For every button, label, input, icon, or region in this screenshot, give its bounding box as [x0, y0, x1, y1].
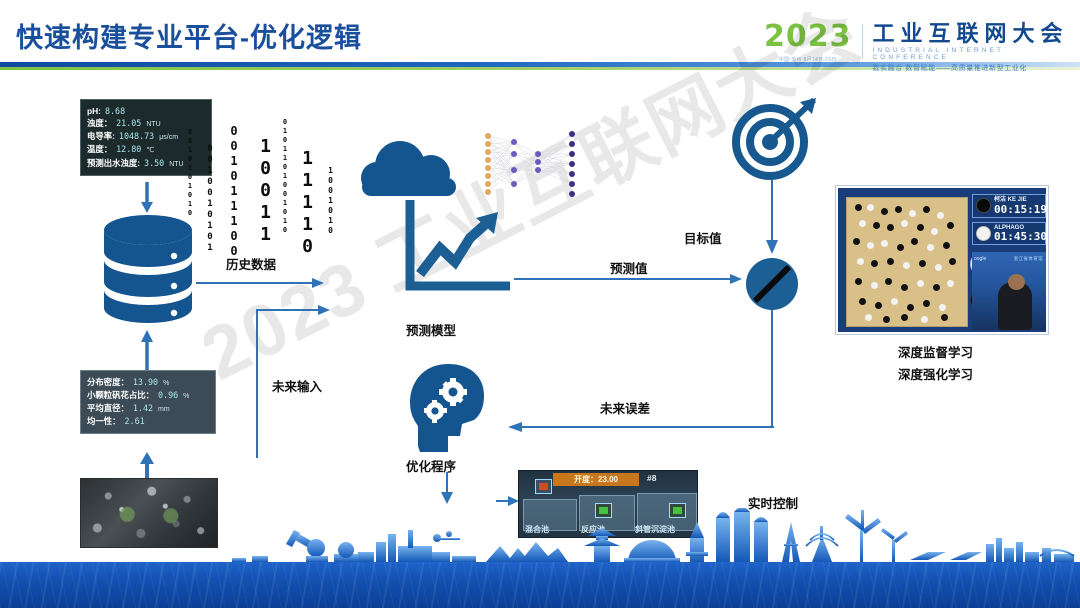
panel-row: 小颗粒矾花占比： 0.96 % — [87, 389, 209, 402]
binary-column: 001011100 — [228, 124, 240, 259]
alphago-clock-panel: 柯洁 KE JIE 00:15:19 ALPHAGO 01:45:30 — [972, 194, 1046, 249]
logo-year-block: 2023 中国·苏州 8月14日-15日 — [764, 22, 852, 63]
row-unit: ℃ — [146, 146, 154, 156]
alphago-match-screenshot: 柯洁 KE JIE 00:15:19 ALPHAGO 01:45:30 oogl… — [836, 186, 1048, 334]
row-key: pH: — [87, 105, 101, 117]
logo-title-cn: 工业互联网大会 — [872, 22, 1080, 45]
row-unit: NTU — [146, 120, 160, 130]
binary-data-graphic: 0010101010 0010010101 001011100 10011 01… — [186, 118, 350, 268]
row-value: 1048.73 — [119, 130, 154, 142]
binary-column: 1001010 — [326, 166, 334, 236]
arrow-comparator-down — [763, 310, 781, 428]
video-logo-text: oogle — [974, 256, 986, 262]
city-skyline-graphic — [0, 508, 1080, 564]
row-key: 小颗粒矾花占比： — [87, 389, 154, 401]
target-bullseye-icon — [728, 96, 818, 182]
logo-text-block: 工业互联网大会 INDUSTRIAL INTERNET CONFERENCE 数… — [872, 22, 1080, 73]
arrow-history-data — [196, 276, 326, 290]
panel-row: 均一性： 2.61 — [87, 415, 209, 427]
logo-divider — [862, 24, 863, 58]
trend-chart-icon — [398, 200, 510, 300]
database-icon — [100, 212, 196, 326]
label-prediction-model: 预测模型 — [406, 320, 456, 339]
row-unit: % — [183, 392, 189, 402]
row-value: 21.05 — [116, 117, 141, 129]
alphago-video-feed: oogle 浙江省体育馆 — [972, 252, 1046, 330]
scada-opening-value: 开度：23.00 — [574, 474, 618, 485]
label-history-data: 历史数据 — [226, 254, 276, 273]
panel-row: 分布密度： 13.90 % — [87, 376, 209, 389]
arrow-predicted-value — [514, 272, 744, 286]
video-venue-text: 浙江省体育馆 — [1014, 256, 1043, 262]
scada-unit-number: #8 — [647, 473, 656, 483]
logo-date: 中国·苏州 8月14日-15日 — [779, 56, 837, 63]
caption-deep-reinforcement: 深度强化学习 — [898, 367, 973, 384]
clock-black-player: 柯洁 KE JIE 00:15:19 — [972, 194, 1046, 218]
label-future-error: 未来误差 — [600, 398, 650, 417]
player-time-black: 00:15:19 — [994, 204, 1047, 215]
logo-subtitle: 数实融合 数智赋能——高质量推进新型工业化 — [872, 63, 1080, 73]
player-head — [1008, 274, 1025, 290]
caption-deep-supervised: 深度监督学习 — [898, 345, 973, 362]
neural-network-icon — [482, 128, 578, 200]
binary-column: 0101101001010 — [281, 118, 288, 235]
scada-chip-dosing[interactable] — [535, 479, 552, 494]
go-board — [846, 197, 968, 327]
row-unit: μs/cm — [159, 133, 178, 143]
black-stone-icon — [976, 198, 991, 213]
row-unit: mm — [158, 405, 170, 415]
arrow-into-scada — [496, 494, 520, 508]
page-title: 快速构建专业平台-优化逻辑 — [16, 16, 362, 55]
row-key: 电导率: — [87, 130, 115, 142]
panel-row: 平均直径： 1.42 mm — [87, 402, 209, 415]
binary-column: 11110 — [298, 148, 316, 258]
row-key: 分布密度： — [87, 376, 129, 388]
slide-canvas: 快速构建专业平台-优化逻辑 2023 中国·苏州 8月14日-15日 工业互联网… — [0, 0, 1080, 608]
row-unit: NTU — [169, 160, 183, 170]
arrow-sensor-to-db — [138, 182, 156, 214]
white-stone-icon — [976, 226, 991, 241]
arrow-photo-to-panel — [138, 452, 156, 478]
conference-logo: 2023 中国·苏州 8月14日-15日 工业互联网大会 INDUSTRIAL … — [764, 22, 1080, 73]
binary-column: 0010010101 — [205, 144, 214, 254]
arrow-future-input — [248, 300, 334, 460]
binary-column: 10011 — [256, 136, 274, 246]
floc-analysis-panel: 分布密度： 13.90 % 小颗粒矾花占比： 0.96 % 平均直径： 1.42… — [80, 370, 216, 434]
row-key: 温度： — [87, 143, 112, 155]
arrow-target-to-comparator — [763, 180, 781, 256]
panel-row: pH: 8.68 — [87, 105, 205, 117]
logo-year: 2023 — [764, 22, 852, 52]
row-key: 均一性： — [87, 415, 121, 427]
arrow-floc-to-db — [138, 330, 156, 370]
row-key: 平均直径： — [87, 402, 129, 414]
row-unit: % — [163, 379, 169, 389]
row-key: 预测出水浊度: — [87, 157, 140, 169]
cloud-icon — [358, 140, 470, 206]
row-value: 1.42 — [133, 402, 153, 414]
comparator-node-icon — [744, 256, 800, 312]
row-value: 3.50 — [144, 157, 164, 169]
row-value: 12.80 — [116, 143, 141, 155]
optimizer-head-icon — [404, 362, 490, 458]
row-value: 13.90 — [133, 376, 158, 388]
row-value: 2.61 — [125, 415, 145, 427]
water-band — [0, 562, 1080, 608]
scada-opening-readout: 开度：23.00 — [553, 473, 639, 486]
logo-title-en: INDUSTRIAL INTERNET CONFERENCE — [872, 47, 1080, 61]
player-time-white: 01:45:30 — [994, 231, 1047, 242]
binary-column: 0010101010 — [186, 128, 193, 218]
row-key: 浊度： — [87, 117, 112, 129]
label-target-value: 目标值 — [684, 228, 722, 247]
arrow-optimizer-to-scada — [438, 472, 456, 506]
clock-white-player: ALPHAGO 01:45:30 — [972, 222, 1046, 246]
arrow-future-error — [508, 420, 776, 434]
row-value: 8.68 — [105, 105, 125, 117]
row-value: 0.96 — [158, 389, 178, 401]
